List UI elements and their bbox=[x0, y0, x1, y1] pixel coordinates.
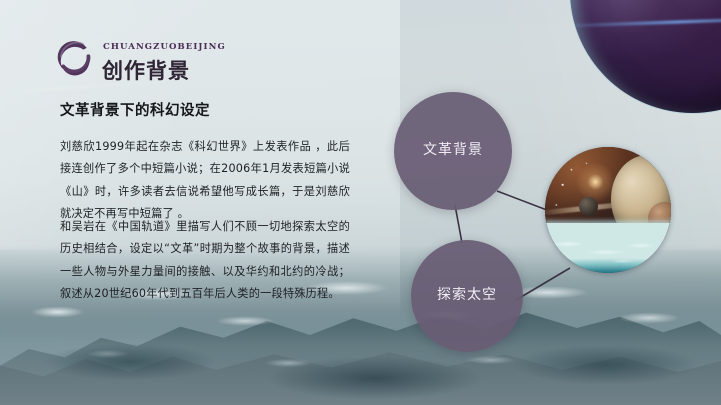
presentation-slide: 文革背景 探索太空 CHUANGZUOBEIJING 创作背景 文革背景下的科幻… bbox=[0, 0, 721, 405]
body-paragraph-1: 刘慈欣1999年起在杂志《科幻世界》上发表作品 ，此后接连创作了多个中短篇小说；… bbox=[60, 136, 350, 226]
enso-brush-circle-icon bbox=[54, 37, 96, 79]
space-planets-circle-image bbox=[545, 147, 671, 273]
header-english-title: CHUANGZUOBEIJING bbox=[103, 42, 226, 52]
diagram-node-label: 文革背景 bbox=[422, 140, 484, 162]
earth-clouds bbox=[545, 233, 671, 271]
diagram-node-wenge-beijing[interactable]: 文革背景 bbox=[394, 92, 512, 210]
diagram-node-tansuo-taikong[interactable]: 探索太空 bbox=[411, 240, 523, 352]
body-paragraph-2: 和吴岩在《中国轨道》里描写人们不顾一切地探索太空的历史相结合，设定以“文革”时期… bbox=[60, 216, 350, 306]
page-title: 创作背景 bbox=[102, 55, 190, 85]
diagram-node-label: 探索太空 bbox=[437, 285, 497, 307]
section-subtitle: 文革背景下的科幻设定 bbox=[60, 99, 210, 120]
